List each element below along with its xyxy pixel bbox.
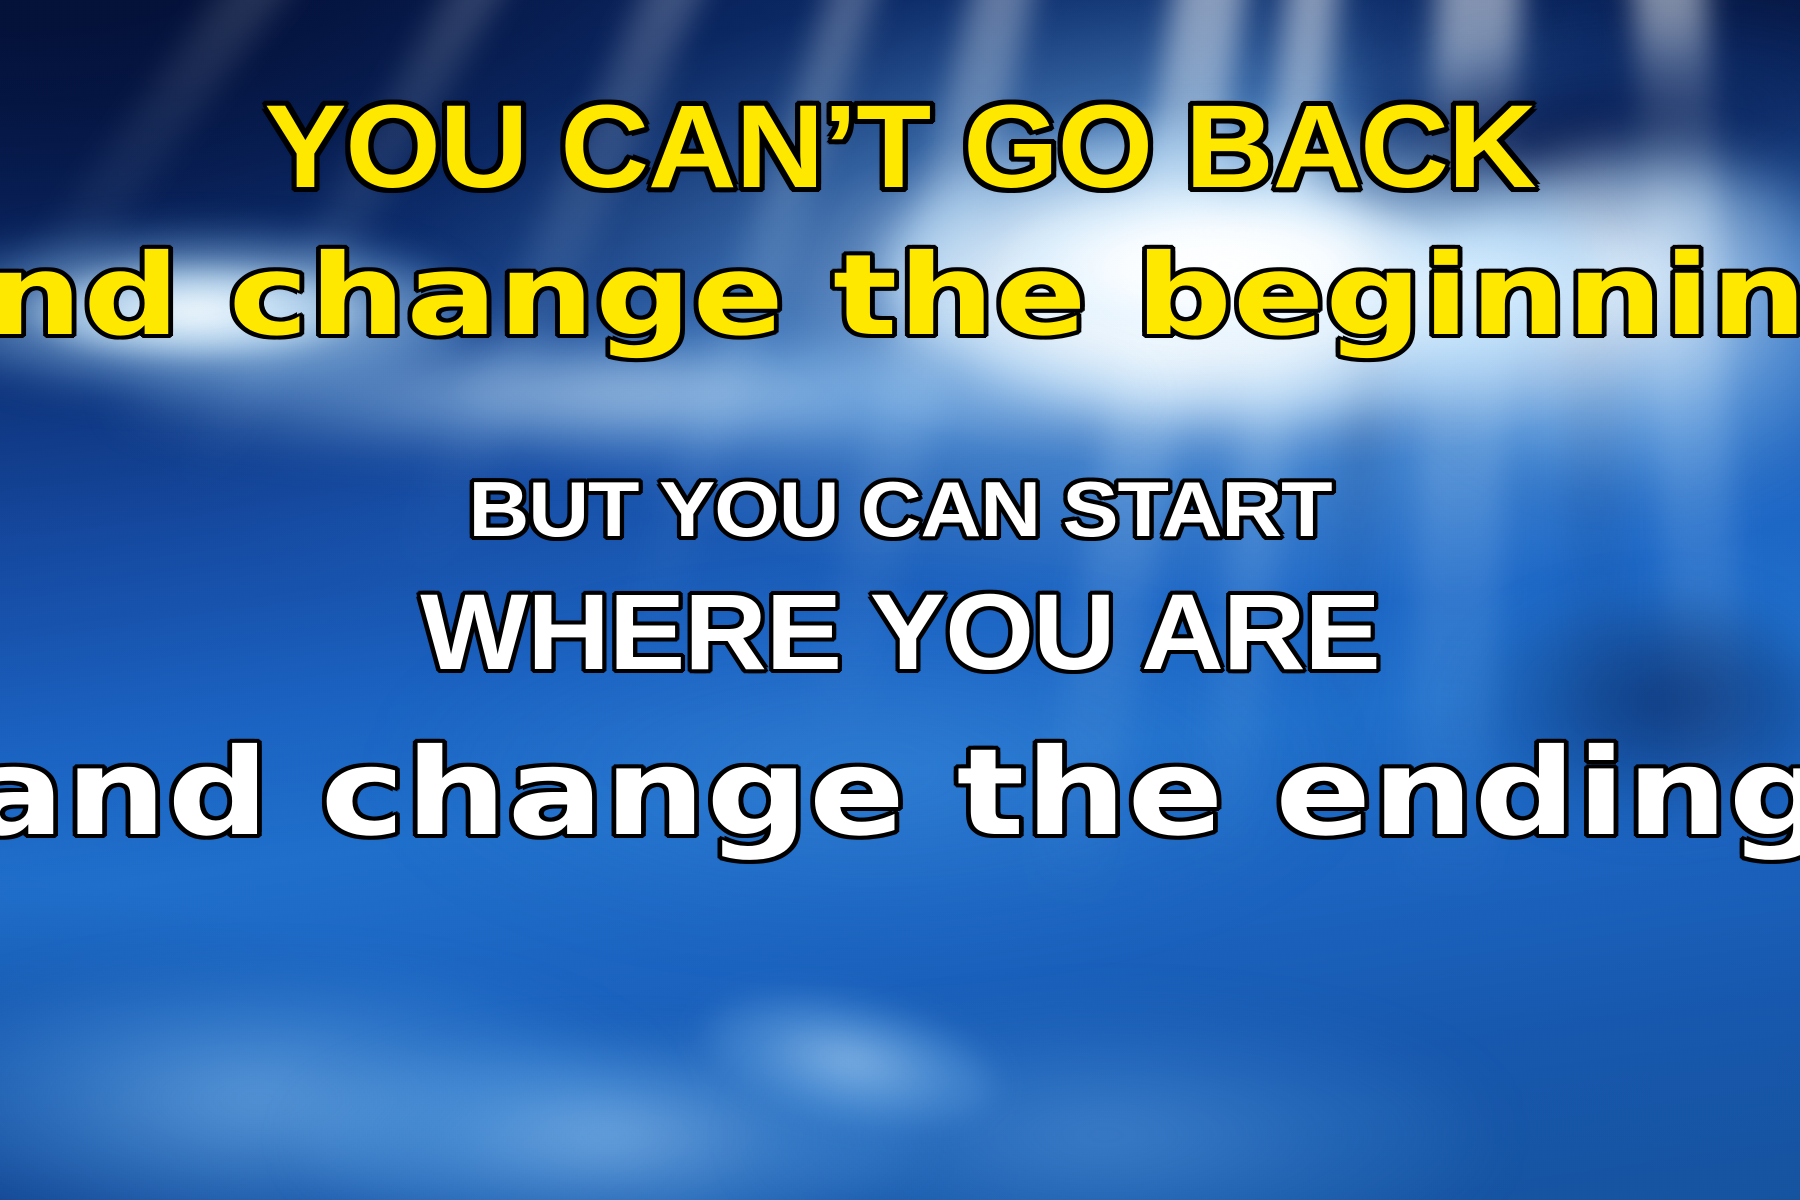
quote-line-4: WHERE YOU ARE bbox=[0, 578, 1800, 686]
quote-poster: YOU CAN’T GO BACK and change the beginni… bbox=[0, 0, 1800, 1200]
quote-line-2: and change the beginning bbox=[0, 240, 1800, 352]
quote-line-1: YOU CAN’T GO BACK bbox=[0, 88, 1800, 206]
quote-line-5: and change the ending bbox=[0, 734, 1800, 854]
quote-text-block: YOU CAN’T GO BACK and change the beginni… bbox=[0, 0, 1800, 1200]
quote-line-3: BUT YOU CAN START bbox=[0, 470, 1800, 548]
